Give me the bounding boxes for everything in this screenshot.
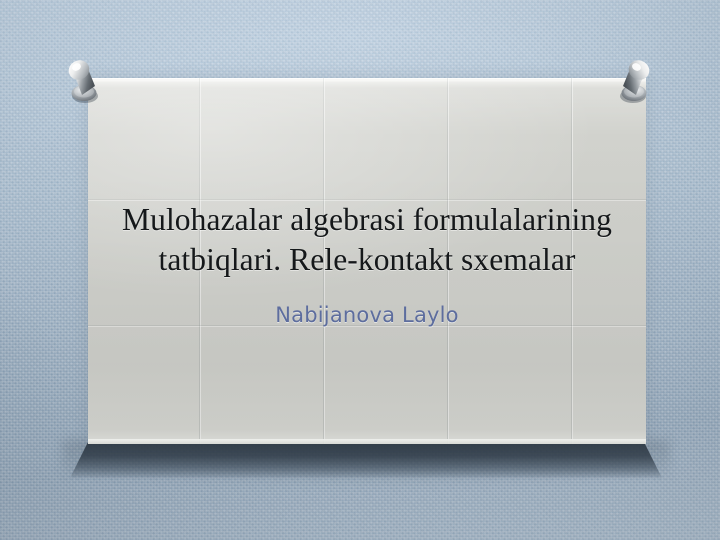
board-drop-shadow: [70, 442, 662, 478]
slide-canvas: Mulohazalar algebrasi formulalarining ta…: [0, 0, 720, 540]
slide-title: Mulohazalar algebrasi formulalarining ta…: [102, 200, 632, 280]
push-pin-right[interactable]: [612, 56, 656, 108]
slide-text-block: Mulohazalar algebrasi formulalarining ta…: [88, 78, 646, 444]
push-pin-icon-right: [612, 56, 656, 108]
push-pin-icon-left: [62, 56, 106, 108]
push-pin-left[interactable]: [62, 56, 106, 108]
slide-subtitle: Nabijanova Laylo: [102, 302, 632, 328]
